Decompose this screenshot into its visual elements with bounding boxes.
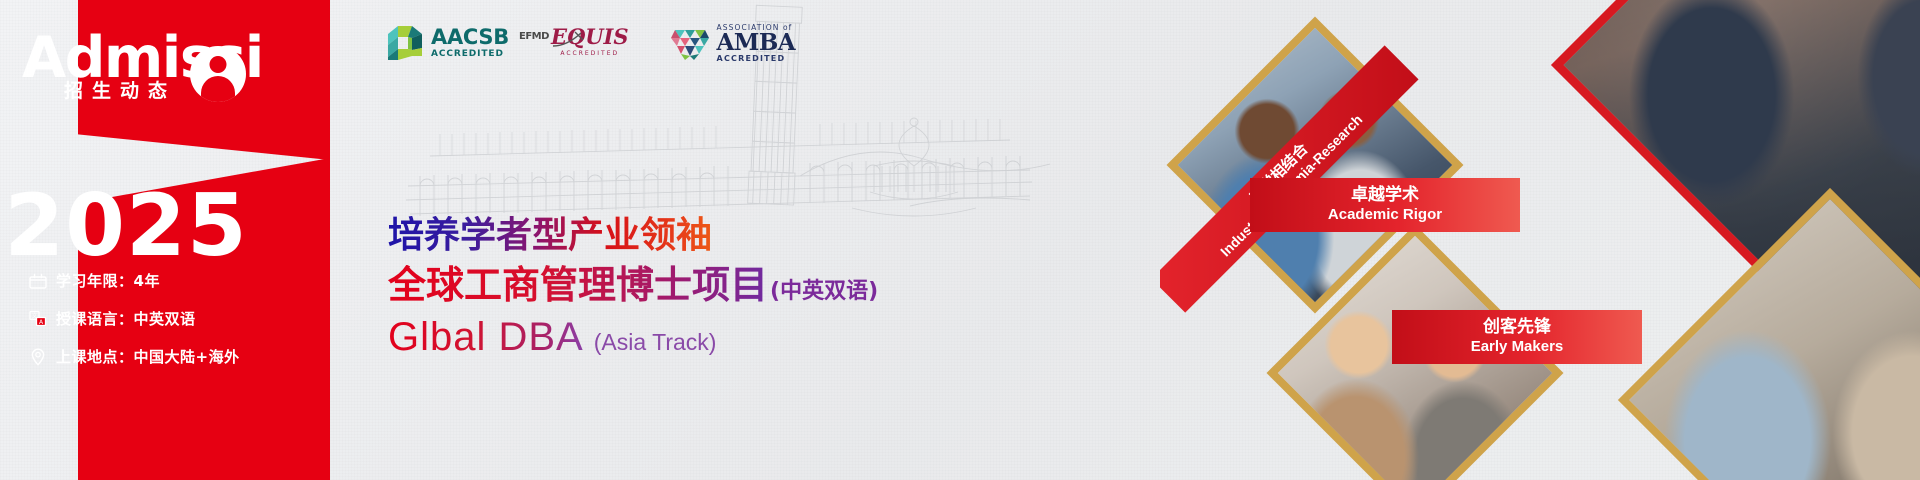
admission-logo: Admissi 招生动态	[0, 24, 290, 114]
efmd-label: EFMD	[519, 32, 549, 42]
ribbon-early-makers-cn: 创客先锋	[1402, 317, 1632, 338]
ribbon-academic-rigor: 卓越学术 Academic Rigor	[1250, 178, 1520, 232]
amba-logo: ASSOCIATION of AMBA ACCREDITED	[671, 24, 796, 63]
info-row-duration: 学习年限：4年	[28, 270, 258, 291]
admission-logo-cn: 招生动态	[64, 76, 176, 103]
aacsb-title: AACSB	[431, 27, 509, 48]
calendar-icon	[28, 271, 48, 291]
person-avatar-icon	[190, 46, 246, 102]
admission-banner: Admissi 招生动态 2025 学习年限：4年 文A 授课语言：中英双语 上…	[0, 0, 1920, 480]
headline-program-en: Glbal DBA	[388, 317, 584, 357]
accreditation-logos: AACSB ACCREDITED EFMD EQUIS ACCREDITED	[386, 24, 795, 63]
info-text-duration: 学习年限：4年	[56, 270, 160, 291]
headline-program-cn-sub: (中英双语)	[770, 273, 878, 305]
info-text-language: 授课语言：中英双语	[56, 308, 196, 329]
info-text-location: 上课地点：中国大陆+海外	[56, 346, 240, 367]
program-info-list: 学习年限：4年 文A 授课语言：中英双语 上课地点：中国大陆+海外	[28, 270, 258, 384]
headline-block: 培养学者型产业领袖 全球工商管理博士项目 (中英双语) Glbal DBA (A…	[388, 216, 878, 357]
language-icon: 文A	[28, 309, 48, 329]
year-label: 2025	[0, 176, 252, 276]
amba-title: AMBA	[717, 31, 796, 54]
equis-logo: EFMD EQUIS ACCREDITED	[551, 24, 629, 57]
ribbon-early-makers: 创客先锋 Early Makers	[1392, 310, 1642, 364]
equis-subtitle: ACCREDITED	[551, 51, 629, 57]
photo-collage: 产学相结合 Industry-Academia-Research 卓越学术 Ac…	[1160, 0, 1920, 480]
aacsb-subtitle: ACCREDITED	[431, 50, 509, 59]
amba-subtitle: ACCREDITED	[717, 55, 796, 63]
ribbon-academic-rigor-cn: 卓越学术	[1260, 185, 1510, 206]
aacsb-logo-icon	[386, 24, 424, 62]
info-row-location: 上课地点：中国大陆+海外	[28, 346, 258, 367]
location-pin-icon	[28, 347, 48, 367]
aacsb-logo: AACSB ACCREDITED	[386, 24, 509, 62]
headline-program-en-sub: (Asia Track)	[594, 329, 717, 356]
headline-program-cn: 全球工商管理博士项目	[388, 265, 768, 307]
ribbon-academic-rigor-en: Academic Rigor	[1260, 206, 1510, 225]
amba-gem-icon	[671, 24, 711, 62]
ribbon-early-makers-en: Early Makers	[1402, 338, 1632, 357]
headline-tagline: 培养学者型产业领袖	[388, 216, 878, 256]
info-row-language: 文A 授课语言：中英双语	[28, 308, 258, 329]
